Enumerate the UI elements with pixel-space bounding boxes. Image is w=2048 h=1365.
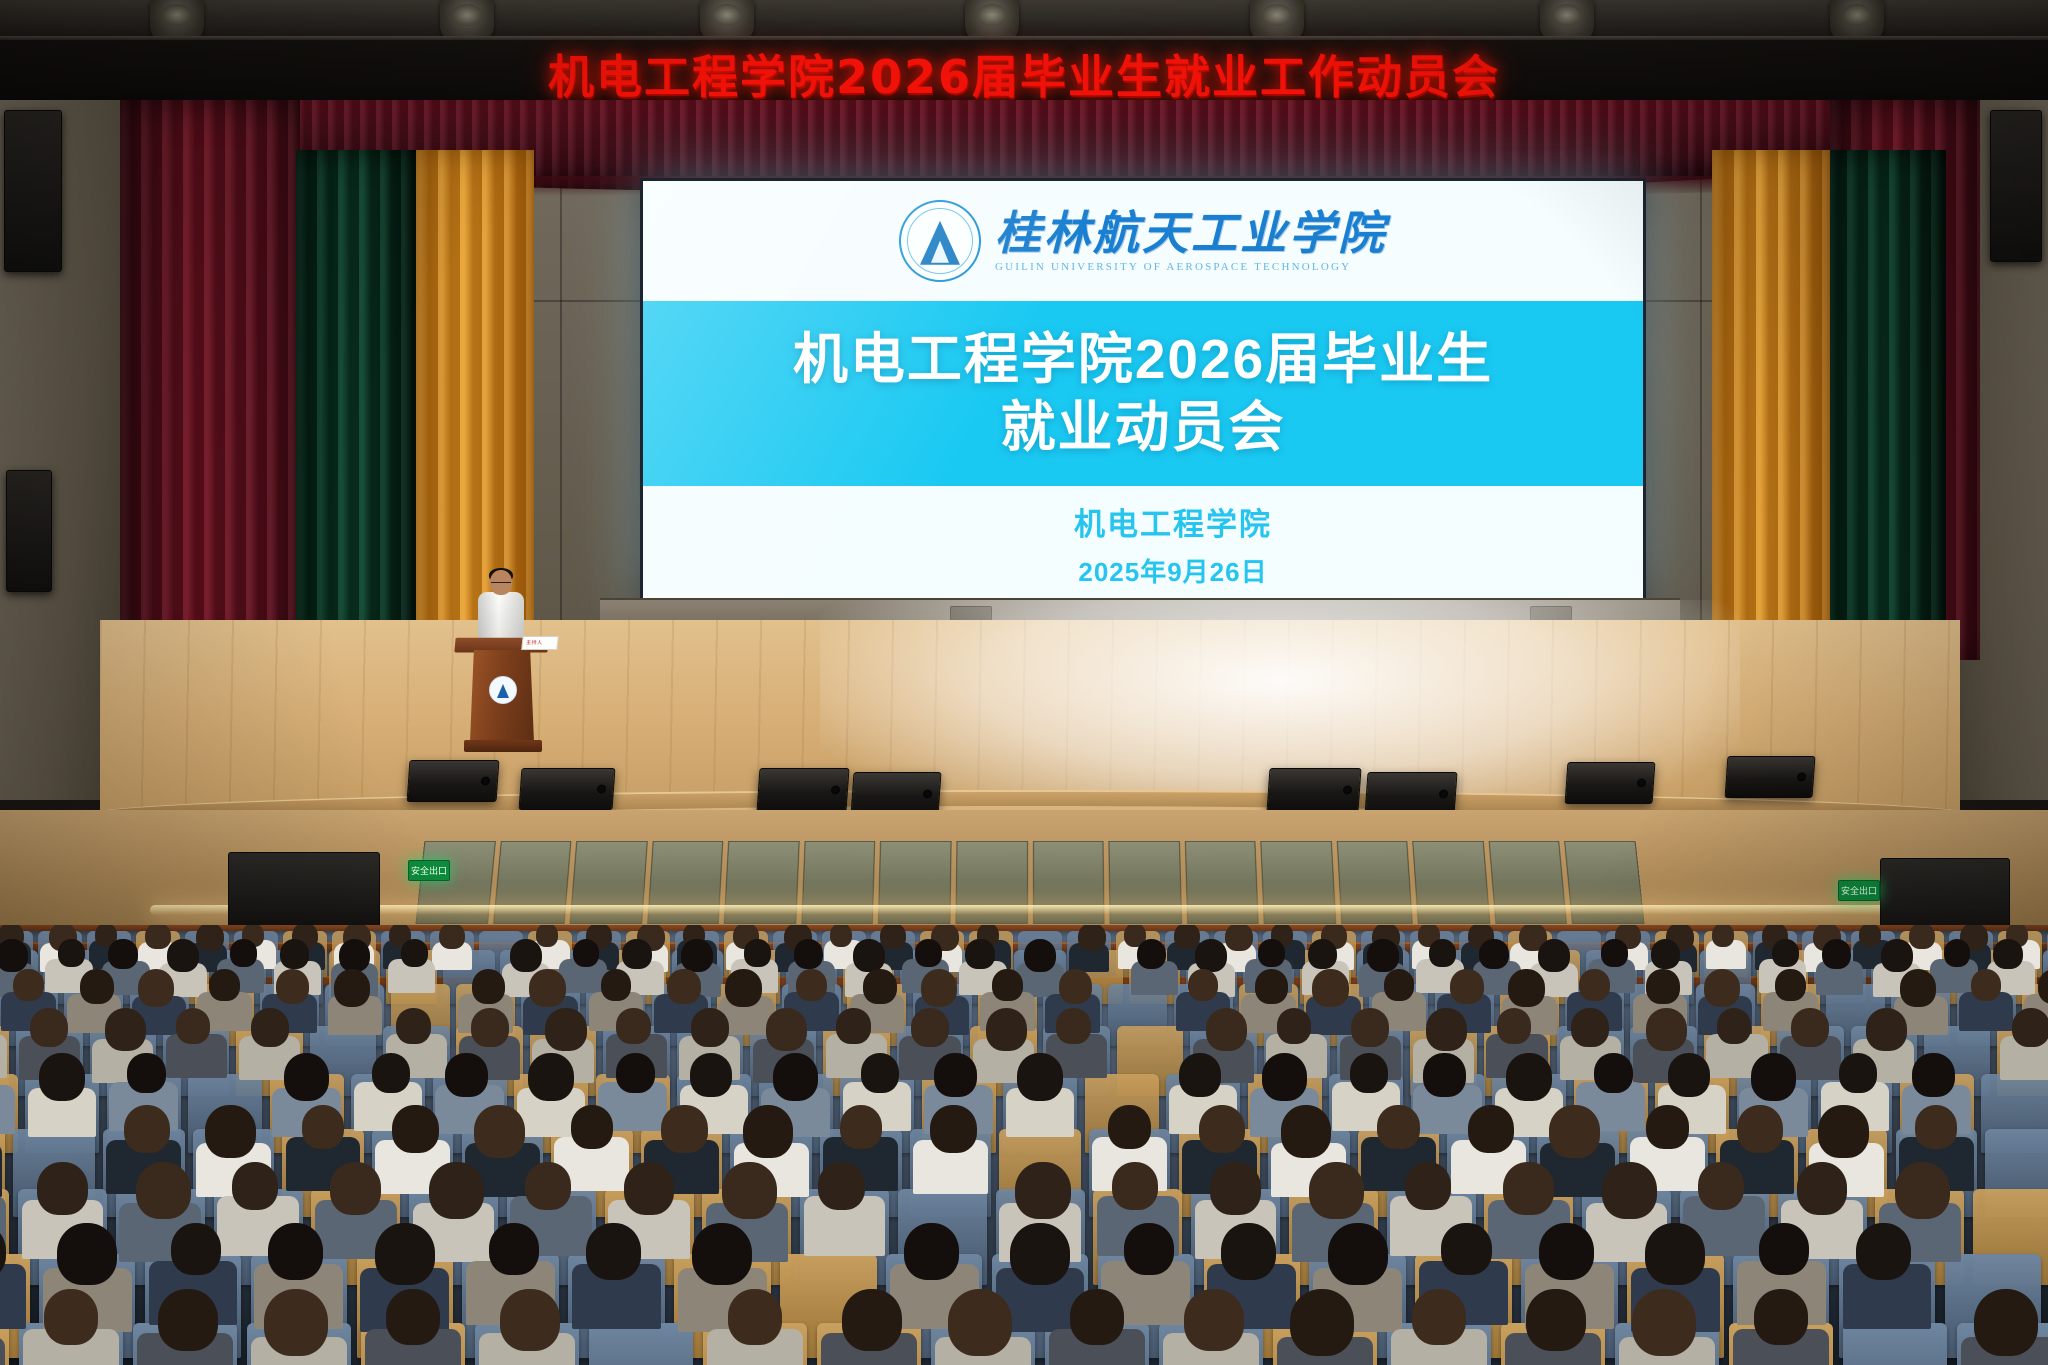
audience-member-head: [842, 1289, 901, 1351]
audience-member-head: [794, 939, 823, 970]
audience-member-head: [766, 1008, 807, 1051]
audience-member-head: [80, 969, 114, 1004]
slide-footer: 机电工程学院 2025年9月26日: [643, 486, 1643, 601]
audience-member-body: [0, 1337, 5, 1365]
audience-member-head: [622, 939, 651, 970]
audience-member-head: [1737, 1105, 1783, 1153]
cove-light-strip: [150, 905, 1900, 915]
audience-member-head: [904, 1223, 959, 1280]
audience-member-head: [57, 1223, 117, 1285]
audience-member-head: [1277, 1008, 1312, 1044]
audience-member-head: [1056, 1008, 1091, 1044]
audience-member-head: [1818, 1105, 1869, 1158]
audience-member-head: [500, 1289, 559, 1351]
audience-member-head: [853, 939, 885, 972]
audience-member-head: [1508, 969, 1545, 1007]
audience-member-head: [1538, 939, 1570, 972]
audience-member-head: [474, 1105, 525, 1158]
audience-member-head: [692, 1223, 752, 1285]
audience-member-head: [510, 939, 542, 972]
audience-member-head: [276, 969, 310, 1004]
stage-monitor: [1266, 768, 1361, 812]
stage-monitor: [519, 768, 616, 810]
curtain-green-left: [296, 150, 416, 650]
audience-member-head: [1308, 939, 1337, 970]
audience-member-head: [667, 969, 701, 1004]
audience-member-head: [743, 1105, 794, 1158]
audience-member-head: [0, 939, 28, 972]
audience-member-head: [392, 1105, 438, 1153]
audience-member-head: [1017, 1053, 1063, 1101]
audience-member-head: [330, 1162, 381, 1215]
audience-member-head: [1479, 939, 1508, 970]
university-logo-icon: [899, 200, 981, 282]
audience-member-head: [1426, 1008, 1467, 1051]
stage-monitor: [407, 760, 500, 802]
audience-member-head: [992, 969, 1023, 1001]
audience-member-head: [302, 1105, 344, 1149]
audience-member-head: [1328, 1223, 1388, 1285]
audience-member-head: [1759, 1223, 1809, 1275]
audience-member-head: [921, 969, 958, 1007]
audience-member-head: [1351, 1008, 1389, 1047]
audience-member-head: [136, 1162, 191, 1219]
audience-member-head: [158, 1289, 217, 1351]
audience-member-head: [284, 1053, 330, 1101]
audience-member-head: [230, 939, 257, 967]
audience-member-head: [863, 969, 897, 1004]
audience-member-head: [1856, 1223, 1911, 1280]
audience-member-head: [1881, 939, 1913, 972]
audience-member-head: [915, 939, 942, 967]
audience-member-head: [1199, 1105, 1245, 1153]
audience-seating-area: [0, 925, 2048, 1365]
audience-member-head: [1015, 1162, 1070, 1219]
audience-member-head: [1405, 1162, 1451, 1210]
audience-member-head: [1384, 969, 1415, 1001]
audience-member-head: [1915, 1105, 1957, 1149]
audience-member-head: [44, 1289, 98, 1345]
audience-member-head: [948, 1289, 1012, 1356]
audience-member-head: [171, 1223, 221, 1275]
audience-member-head: [124, 1105, 170, 1153]
exit-sign-right-text: 安全出口: [1841, 884, 1877, 897]
university-name-cn: 桂林航天工业学院: [995, 209, 1387, 257]
audience-member-head: [1506, 1053, 1552, 1101]
audience-member-head: [1221, 1223, 1276, 1280]
audience-member-head: [280, 939, 309, 970]
audience-member-head: [1258, 939, 1285, 967]
audience-member-head: [1602, 1162, 1657, 1219]
audience-member-head: [1651, 939, 1680, 970]
audience-member-head: [1070, 1289, 1124, 1345]
audience-member-head: [268, 1223, 323, 1280]
podium-base: [464, 740, 542, 752]
audience-member-head: [728, 1289, 782, 1345]
audience-member-head: [1646, 1008, 1687, 1051]
audience-member-head: [624, 1162, 675, 1215]
audience-member-head: [375, 1223, 435, 1285]
audience-member-head: [1179, 1053, 1221, 1097]
glasses-icon: [491, 582, 511, 588]
audience-member-head: [1646, 969, 1680, 1004]
audience-member-head: [1632, 1289, 1696, 1356]
audience-member-head: [690, 1053, 732, 1097]
audience-member-head: [1010, 1223, 1070, 1285]
audience-member-head: [1377, 1105, 1419, 1149]
audience-member-head: [1526, 1289, 1585, 1351]
audience-member-head: [1594, 1053, 1632, 1093]
audience-member-head: [1206, 1008, 1247, 1051]
university-crest-icon: [489, 676, 517, 704]
audience-member-head: [176, 1008, 211, 1044]
wall-speaker: [1990, 110, 2042, 262]
audience-member-head: [616, 1008, 651, 1044]
audience-member-head: [529, 969, 566, 1007]
audience-member-head: [1423, 1053, 1465, 1097]
audience-member-head: [372, 1053, 410, 1093]
stage-monitor: [1565, 762, 1656, 804]
audience-member-head: [209, 969, 240, 1001]
audience-member-head: [401, 939, 428, 967]
audience-member-head: [1112, 1162, 1158, 1210]
audience-member-head: [1549, 1105, 1600, 1158]
audience-member-head: [232, 1162, 278, 1210]
stage-monitor: [1725, 756, 1816, 798]
audience-member-head: [1797, 1162, 1848, 1215]
audience-member-head: [525, 1162, 571, 1210]
audience-member-head: [1912, 1053, 1954, 1097]
curtain-orange-right: [1712, 150, 1830, 670]
audience-member-head: [1895, 1162, 1950, 1219]
audience-member-head: [601, 969, 632, 1001]
crest-delta-shape: [497, 684, 509, 698]
audience-member-head: [1309, 1162, 1364, 1219]
audience-member-head: [13, 969, 44, 1001]
audience-member-head: [744, 939, 771, 967]
audience-member-head: [1195, 939, 1227, 972]
logo-delta-shape: [920, 221, 960, 265]
audience-member-head: [1367, 939, 1399, 972]
audience-member-head: [1974, 1289, 2038, 1356]
audience-member-head: [1866, 1008, 1907, 1051]
audience-member-head: [1137, 939, 1166, 970]
audience-member-head: [30, 1008, 68, 1047]
university-identity: 桂林航天工业学院 GUILIN UNIVERSITY OF AEROSPACE …: [995, 209, 1387, 273]
exit-sign-left-text: 安全出口: [411, 864, 447, 877]
audience-member-head: [1468, 1105, 1514, 1153]
audience-member-head: [571, 1105, 613, 1149]
audience-member-head: [818, 1162, 864, 1210]
audience-member-head: [691, 1008, 729, 1047]
audience-member-head: [138, 969, 175, 1007]
wall-speaker: [4, 110, 62, 272]
stage-floor: [100, 620, 1960, 810]
audience-member-head: [1717, 1008, 1752, 1044]
audience-row: [0, 1289, 2048, 1365]
audience-member-head: [836, 1008, 871, 1044]
audience-member-head: [58, 939, 85, 967]
audience-member-head: [251, 1008, 289, 1047]
audience-member-head: [471, 1008, 509, 1047]
audience-member-head: [339, 939, 371, 972]
audience-member-head: [1839, 1053, 1877, 1093]
audience-member-head: [616, 1053, 654, 1093]
audience-member-head: [1255, 969, 1289, 1004]
projection-screen: 桂林航天工业学院 GUILIN UNIVERSITY OF AEROSPACE …: [640, 178, 1646, 604]
audience-member-head: [1059, 969, 1093, 1004]
side-loudspeaker: [228, 852, 380, 928]
slide-organization: 机电工程学院: [1074, 499, 1272, 544]
audience-member-head: [796, 969, 827, 1001]
audience-member-head: [1900, 969, 1937, 1007]
audience-member-head: [1210, 1162, 1261, 1215]
stage-monitor: [756, 768, 849, 812]
slide-title-line-1: 机电工程学院2026届毕业生: [793, 326, 1493, 393]
audience-member-head: [545, 1008, 586, 1051]
audience-member-head: [965, 939, 994, 970]
exit-sign-left: 安全出口: [408, 860, 450, 881]
audience-member-head: [1312, 969, 1349, 1007]
audience-member-head: [1412, 1289, 1466, 1345]
audience-member-head: [1772, 939, 1799, 967]
audience-member-head: [722, 1162, 777, 1219]
audience-member-head: [573, 939, 600, 967]
podium-nameplate-text: 主持人: [526, 639, 543, 646]
audience-member-head: [1262, 1053, 1308, 1101]
audience-member-head: [586, 1223, 641, 1280]
audience-member-head: [934, 1053, 976, 1097]
audience-member-head: [1108, 1105, 1150, 1149]
exit-sign-right: 安全出口: [1838, 880, 1880, 901]
audience-member-head: [1503, 1162, 1554, 1215]
audience-member-head: [661, 1105, 707, 1153]
audience-member-head: [1754, 1289, 1808, 1345]
university-name-en: GUILIN UNIVERSITY OF AEROSPACE TECHNOLOG…: [995, 261, 1351, 273]
audience-member-head: [1971, 969, 2002, 1001]
audience-member-head: [1450, 969, 1484, 1004]
audience-member-head: [105, 1008, 146, 1051]
audience-member-head: [1993, 939, 2022, 970]
audience-member-head: [1441, 1223, 1491, 1275]
audience-member-head: [1290, 1289, 1354, 1356]
audience-member-head: [1429, 939, 1456, 967]
audience-member-head: [1539, 1223, 1594, 1280]
audience-member-head: [167, 939, 199, 972]
audience-member-head: [1668, 1053, 1710, 1097]
slide-title-band: 机电工程学院2026届毕业生 就业动员会: [643, 301, 1643, 486]
audience-member-head: [681, 939, 713, 972]
audience-member-head: [39, 1053, 85, 1101]
audience-member-head: [445, 1053, 487, 1097]
audience-member-head: [528, 1053, 574, 1101]
audience-member-head: [1704, 969, 1741, 1007]
audience-member-head: [773, 1053, 819, 1101]
audience-member-head: [1184, 1289, 1243, 1351]
audience-member-head: [108, 939, 137, 970]
audience-member-head: [1024, 939, 1056, 972]
audience-member-head: [1497, 1008, 1532, 1044]
presenter-person: [478, 570, 524, 644]
audience-member-head: [1751, 1053, 1797, 1101]
audience-member-head: [840, 1105, 882, 1149]
audience-member-head: [1698, 1162, 1744, 1210]
audience-member-head: [930, 1105, 976, 1153]
podium-nameplate: 主持人: [521, 636, 558, 650]
audience-member-head: [1188, 969, 1219, 1001]
audience-member-head: [1646, 1105, 1688, 1149]
audience-member-head: [127, 1053, 165, 1093]
audience-member-head: [1775, 969, 1806, 1001]
curtain-red-left: [120, 100, 300, 660]
audience-member-head: [986, 1008, 1027, 1051]
audience-member-head: [1124, 1223, 1174, 1275]
wall-speaker: [6, 470, 52, 592]
audience-member-head: [911, 1008, 949, 1047]
audience-member-head: [334, 969, 371, 1007]
audience-member-head: [725, 969, 762, 1007]
audience-member-head: [1579, 969, 1610, 1001]
audience-member-head: [1791, 1008, 1829, 1047]
audience-member-head: [386, 1289, 440, 1345]
audience-member-head: [2012, 1008, 2048, 1047]
audience-member-head: [1944, 939, 1971, 967]
audience-member-head: [1822, 939, 1851, 970]
audience-member-head: [489, 1223, 539, 1275]
slide-date: 2025年9月26日: [1078, 552, 1267, 589]
audience-member-head: [205, 1105, 256, 1158]
audience-member-head: [1350, 1053, 1388, 1093]
event-banner-text: 机电工程学院2026届毕业生就业工作动员会: [0, 44, 2048, 104]
audience-member-head: [264, 1289, 328, 1356]
curtain-green-right: [1826, 150, 1946, 650]
audience-member-head: [1571, 1008, 1609, 1047]
slide-header: 桂林航天工业学院 GUILIN UNIVERSITY OF AEROSPACE …: [643, 181, 1643, 301]
audience-member-head: [861, 1053, 899, 1093]
audience-member-head: [37, 1162, 88, 1215]
slide-title-line-2: 就业动员会: [1000, 394, 1285, 461]
audience-member-head: [396, 1008, 431, 1044]
audience-member-head: [1645, 1223, 1705, 1285]
audience-member-head: [472, 969, 506, 1004]
audience-member-head: [1281, 1105, 1332, 1158]
audience-member-head: [1601, 939, 1628, 967]
audience-member-head: [429, 1162, 484, 1219]
auditorium-photo: 机电工程学院2026届毕业生就业工作动员会 桂林航天工业学院 GUILIN UN…: [0, 0, 2048, 1365]
